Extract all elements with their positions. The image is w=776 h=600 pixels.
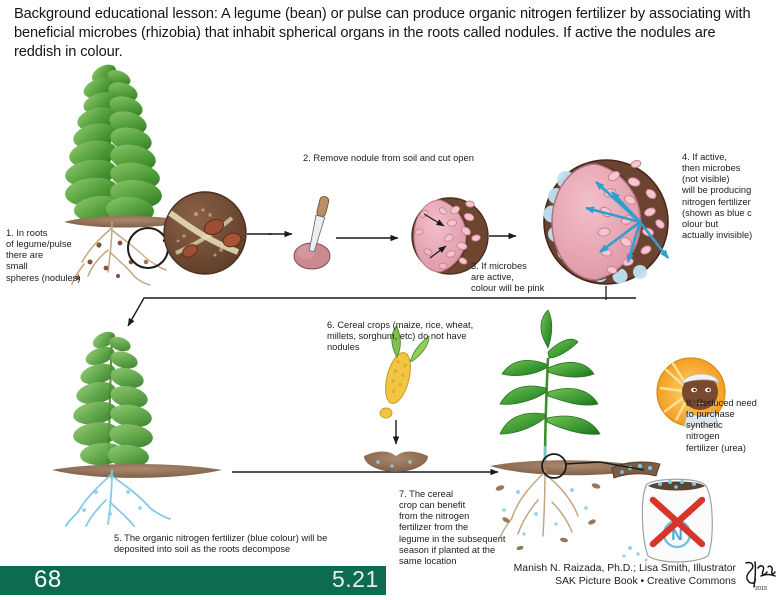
step-3-caption: 3. If microbes are active, colour will b… (471, 261, 581, 294)
root-nodule-closeup-brown (164, 192, 272, 274)
urea-fertilizer-bag-illustration: N (612, 462, 712, 562)
step-5-caption: 5. The organic nitrogen fertilizer (blue… (114, 533, 414, 555)
step-1-caption: 1. In roots of legume/pulse there are sm… (6, 228, 126, 284)
page-number: 68 (34, 567, 62, 594)
step-6-caption: 6. Cereal crops (maize, rice, wheat, mil… (327, 320, 507, 353)
step-8-caption: 8. Reduced need to purchase synthetic ni… (686, 398, 776, 454)
section-number: 5.21 (332, 567, 379, 593)
credit-license: SAK Picture Book • Creative Commons (451, 576, 736, 588)
legume-decomposing-illustration (52, 328, 222, 526)
step-2-caption: 2. Remove nodule from soil and cut open (303, 152, 553, 163)
diagram-canvas: Background educational lesson: A legume … (0, 0, 776, 600)
knife-cutting-nodule-illustration (294, 196, 330, 269)
illustration-layer: N (0, 0, 776, 600)
step-7-caption: 7. The cereal crop can benefit from the … (399, 489, 527, 567)
signature-year: 2015 (755, 586, 767, 592)
soil-divot-no-nodule (364, 452, 428, 473)
step-4-caption: 4. If active, then microbes (not visible… (682, 152, 776, 241)
credit-authors: Manish N. Raizada, Ph.D.; Lisa Smith, Il… (451, 563, 736, 575)
illustrator-signature: 2015 (742, 558, 776, 592)
